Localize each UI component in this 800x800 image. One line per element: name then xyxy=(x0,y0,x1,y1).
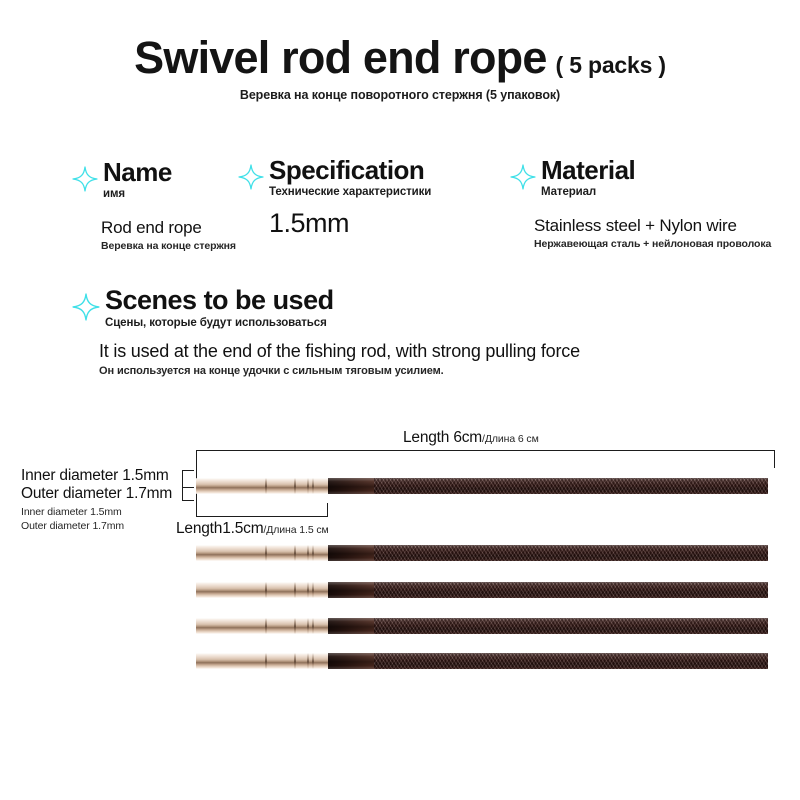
rope-transition-sleeve xyxy=(328,478,374,494)
label-ferrule-length-ru: /Длина 1.5 см xyxy=(263,524,328,536)
label-ferrule-length-en: Length1.5cm xyxy=(176,520,263,537)
sparkle-icon xyxy=(72,166,98,192)
bracket-total-length-right-tick xyxy=(774,450,775,468)
rope-braided-cord xyxy=(374,582,768,598)
title-line: Swivel rod end rope ( 5 packs ) xyxy=(0,34,800,81)
feature-material-value: Stainless steel + Nylon wire xyxy=(534,216,771,236)
label-outer-diameter-en: Outer diameter 1.7mm xyxy=(21,485,172,502)
bracket-total-length-top xyxy=(196,450,775,451)
feature-material-title: Material xyxy=(541,156,635,185)
feature-specification: Specification Технические характеристики… xyxy=(238,156,431,239)
label-inner-diameter-ru: Inner diameter 1.5mm xyxy=(21,506,124,520)
rope-transition-sleeve xyxy=(328,618,374,634)
rope-item xyxy=(196,582,768,598)
rope-braided-cord xyxy=(374,653,768,669)
bracket-total-length-left-tick xyxy=(196,450,197,459)
label-outer-diameter-ru: Outer diameter 1.7mm xyxy=(21,520,124,534)
label-total-length-ru: /Длина 6 см xyxy=(482,433,539,445)
feature-scenes-header: Scenes to be used Сцены, которые будут и… xyxy=(72,286,580,329)
rope-braided-cord xyxy=(374,478,768,494)
title-pack-count: ( 5 packs ) xyxy=(556,52,666,79)
rope-metal-ferrule xyxy=(196,582,328,598)
title-main: Swivel rod end rope xyxy=(134,34,546,81)
feature-specification-header: Specification Технические характеристики xyxy=(238,156,431,198)
feature-material-title-ru: Материал xyxy=(541,186,635,198)
feature-name-body: Rod end rope Веревка на конце стержня xyxy=(101,218,236,252)
feature-material-header: Material Материал xyxy=(510,156,771,198)
feature-specification-value: 1.5mm xyxy=(269,208,431,239)
feature-name: Name имя Rod end rope Веревка на конце с… xyxy=(72,158,236,252)
feature-scenes-value-ru: Он используется на конце удочки с сильны… xyxy=(99,365,580,377)
feature-scenes-title-ru: Сцены, которые будут использоваться xyxy=(105,317,334,329)
feature-material: Material Материал Stainless steel + Nylo… xyxy=(510,156,771,250)
feature-scenes: Scenes to be used Сцены, которые будут и… xyxy=(72,286,580,377)
rope-metal-ferrule xyxy=(196,618,328,634)
rope-item xyxy=(196,478,768,494)
rope-metal-ferrule xyxy=(196,478,328,494)
label-inner-diameter-en: Inner diameter 1.5mm xyxy=(21,467,169,484)
title-subtitle-ru: Веревка на конце поворотного стержня (5 … xyxy=(0,88,800,102)
product-infographic: Swivel rod end rope ( 5 packs ) Веревка … xyxy=(0,0,800,800)
feature-name-header: Name имя xyxy=(72,158,236,200)
page-title: Swivel rod end rope ( 5 packs ) Веревка … xyxy=(0,34,800,102)
feature-specification-title-ru: Технические характеристики xyxy=(269,186,431,198)
rope-braided-cord xyxy=(374,545,768,561)
feature-scenes-title: Scenes to be used xyxy=(105,286,334,316)
feature-material-body: Stainless steel + Nylon wire Нержавеющая… xyxy=(534,216,771,250)
sparkle-icon xyxy=(510,164,536,190)
feature-material-value-ru: Нержавеющая сталь + нейлоновая проволока xyxy=(534,238,771,250)
bracket-ferrule-right-tick xyxy=(327,503,328,516)
rope-item xyxy=(196,653,768,669)
feature-name-value-ru: Веревка на конце стержня xyxy=(101,240,236,252)
rope-transition-sleeve xyxy=(328,582,374,598)
rope-braided-cord xyxy=(374,618,768,634)
sparkle-icon xyxy=(238,164,264,190)
feature-name-title-ru: имя xyxy=(103,188,172,200)
label-ferrule-length: Length1.5cm/Длина 1.5 см xyxy=(176,520,329,539)
tick-outer-diameter-stem xyxy=(182,487,183,501)
sparkle-icon xyxy=(72,293,100,321)
label-inner-diameter-sub: Inner diameter 1.5mm Outer diameter 1.7m… xyxy=(21,506,124,533)
rope-item xyxy=(196,545,768,561)
rope-metal-ferrule xyxy=(196,653,328,669)
product-dimension-diagram: Length 6cm/Длина 6 см Inner diameter 1.5… xyxy=(0,420,800,690)
label-outer-diameter: Outer diameter 1.7mm xyxy=(21,485,172,504)
tick-inner-diameter-top xyxy=(182,470,194,471)
label-total-length-en: Length 6cm xyxy=(403,429,482,446)
rope-metal-ferrule xyxy=(196,545,328,561)
label-total-length: Length 6cm/Длина 6 см xyxy=(403,429,539,448)
feature-scenes-value: It is used at the end of the fishing rod… xyxy=(99,341,580,362)
tick-inner-diameter-bottom xyxy=(182,487,194,488)
tick-inner-diameter-stem xyxy=(182,470,183,487)
feature-scenes-body: It is used at the end of the fishing rod… xyxy=(99,341,580,377)
rope-transition-sleeve xyxy=(328,653,374,669)
label-inner-diameter: Inner diameter 1.5mm xyxy=(21,467,169,486)
feature-specification-title: Specification xyxy=(269,156,431,185)
rope-transition-sleeve xyxy=(328,545,374,561)
bracket-ferrule-bottom xyxy=(196,516,328,517)
feature-name-value: Rod end rope xyxy=(101,218,236,238)
tick-outer-diameter-bottom xyxy=(182,500,194,501)
rope-item xyxy=(196,618,768,634)
feature-name-title: Name xyxy=(103,158,172,187)
feature-specification-body: 1.5mm xyxy=(269,208,431,239)
